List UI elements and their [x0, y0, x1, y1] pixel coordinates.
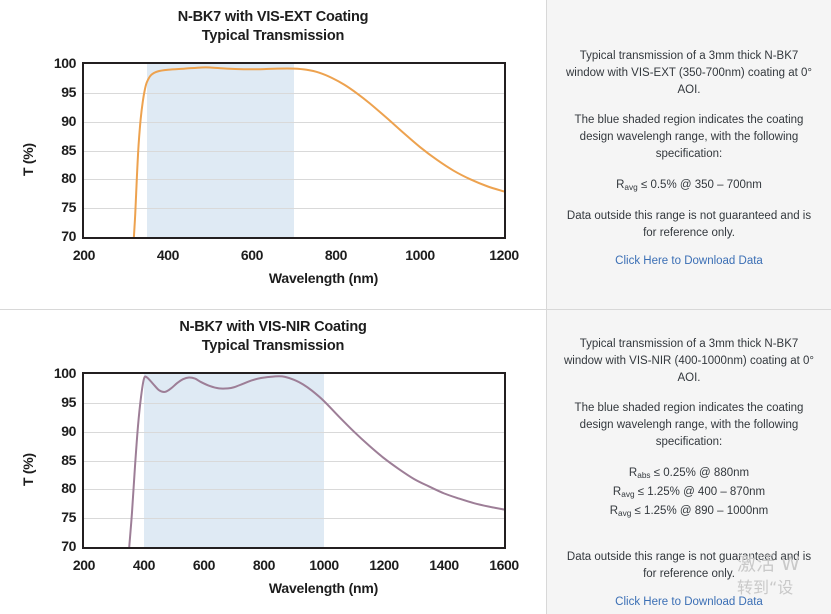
- x-axis-tick-label: 1200: [474, 247, 534, 263]
- chart-title-line2: Typical Transmission: [0, 27, 546, 46]
- spec-line: Ravg ≤ 1.25% @ 890 – 1000nm: [561, 502, 817, 521]
- plot-area-vis-ext: [82, 62, 506, 239]
- x-axis-label-2: Wavelength (nm): [50, 580, 597, 596]
- y-axis-tick-label: 80: [34, 480, 76, 496]
- chart-pane-vis-nir: N-BK7 with VIS-NIR Coating Typical Trans…: [0, 310, 547, 614]
- chart-pane-vis-ext: N-BK7 with VIS-EXT Coating Typical Trans…: [0, 0, 547, 309]
- x-axis-tick-label: 1600: [474, 557, 534, 573]
- spec-line: Ravg ≤ 1.25% @ 400 – 870nm: [561, 483, 817, 502]
- download-data-link-2[interactable]: Click Here to Download Data: [561, 596, 817, 608]
- x-axis-tick-label: 1400: [414, 557, 474, 573]
- x-axis-tick-label: 1000: [390, 247, 450, 263]
- chart-title-vis-ext: N-BK7 with VIS-EXT Coating Typical Trans…: [0, 0, 546, 46]
- chart-title-line2: Typical Transmission: [0, 337, 546, 356]
- info-paragraph-3: Data outside this range is not guarantee…: [561, 208, 817, 242]
- x-axis-label-1: Wavelength (nm): [50, 270, 597, 286]
- info-specification-2: Rabs ≤ 0.25% @ 880nmRavg ≤ 1.25% @ 400 –…: [561, 464, 817, 521]
- y-axis-tick-label: 85: [34, 142, 76, 158]
- x-axis-tick-label: 1000: [294, 557, 354, 573]
- y-axis-tick-label: 95: [34, 394, 76, 410]
- info-paragraph-3: Data outside this range is not guarantee…: [561, 549, 817, 583]
- y-axis-tick-label: 75: [34, 199, 76, 215]
- x-axis-tick-label: 600: [222, 247, 282, 263]
- plot-area-vis-nir: [82, 372, 506, 549]
- y-axis-tick-label: 85: [34, 452, 76, 468]
- info-paragraph-2: The blue shaded region indicates the coa…: [561, 400, 817, 451]
- spec-line: Rabs ≤ 0.25% @ 880nm: [561, 464, 817, 483]
- info-pane-vis-nir: Typical transmission of a 3mm thick N-BK…: [547, 310, 831, 614]
- x-axis-tick-label: 800: [234, 557, 294, 573]
- chart-title-line1: N-BK7 with VIS-NIR Coating: [179, 319, 366, 335]
- chart-title-line1: N-BK7 with VIS-EXT Coating: [178, 9, 369, 25]
- y-axis-tick-label: 70: [34, 228, 76, 244]
- y-axis-tick-label: 75: [34, 509, 76, 525]
- info-paragraph-1: Typical transmission of a 3mm thick N-BK…: [561, 48, 817, 99]
- y-axis-tick-label: 90: [34, 423, 76, 439]
- info-paragraph-2: The blue shaded region indicates the coa…: [561, 112, 817, 163]
- x-axis-tick-label: 1200: [354, 557, 414, 573]
- transmission-charts-page: N-BK7 with VIS-EXT Coating Typical Trans…: [0, 0, 831, 614]
- panel-vis-ext: N-BK7 with VIS-EXT Coating Typical Trans…: [0, 0, 831, 310]
- download-data-link-1[interactable]: Click Here to Download Data: [561, 255, 817, 267]
- x-axis-tick-label: 400: [114, 557, 174, 573]
- chart-title-vis-nir: N-BK7 with VIS-NIR Coating Typical Trans…: [0, 310, 546, 356]
- x-axis-tick-label: 200: [54, 247, 114, 263]
- data-series-line: [134, 67, 504, 239]
- y-axis-tick-label: 100: [34, 365, 76, 381]
- x-axis-tick-label: 600: [174, 557, 234, 573]
- x-axis-tick-label: 200: [54, 557, 114, 573]
- series-canvas: [84, 64, 504, 237]
- series-canvas: [84, 374, 504, 547]
- info-pane-vis-ext: Typical transmission of a 3mm thick N-BK…: [547, 0, 831, 309]
- figure-vis-nir: T (%) Wavelength (nm) 707580859095100200…: [0, 356, 547, 606]
- spec-line: Ravg ≤ 0.5% @ 350 – 700nm: [561, 176, 817, 195]
- y-axis-tick-label: 100: [34, 55, 76, 71]
- info-specification-1: Ravg ≤ 0.5% @ 350 – 700nm: [561, 176, 817, 195]
- panel-vis-nir: N-BK7 with VIS-NIR Coating Typical Trans…: [0, 310, 831, 614]
- y-axis-tick-label: 95: [34, 84, 76, 100]
- x-axis-tick-label: 400: [138, 247, 198, 263]
- figure-vis-ext: T (%) Wavelength (nm) 707580859095100200…: [0, 46, 547, 296]
- data-series-line: [129, 376, 504, 549]
- x-axis-tick-label: 800: [306, 247, 366, 263]
- y-axis-tick-label: 80: [34, 170, 76, 186]
- y-axis-tick-label: 90: [34, 113, 76, 129]
- info-paragraph-1: Typical transmission of a 3mm thick N-BK…: [561, 336, 817, 387]
- y-axis-tick-label: 70: [34, 538, 76, 554]
